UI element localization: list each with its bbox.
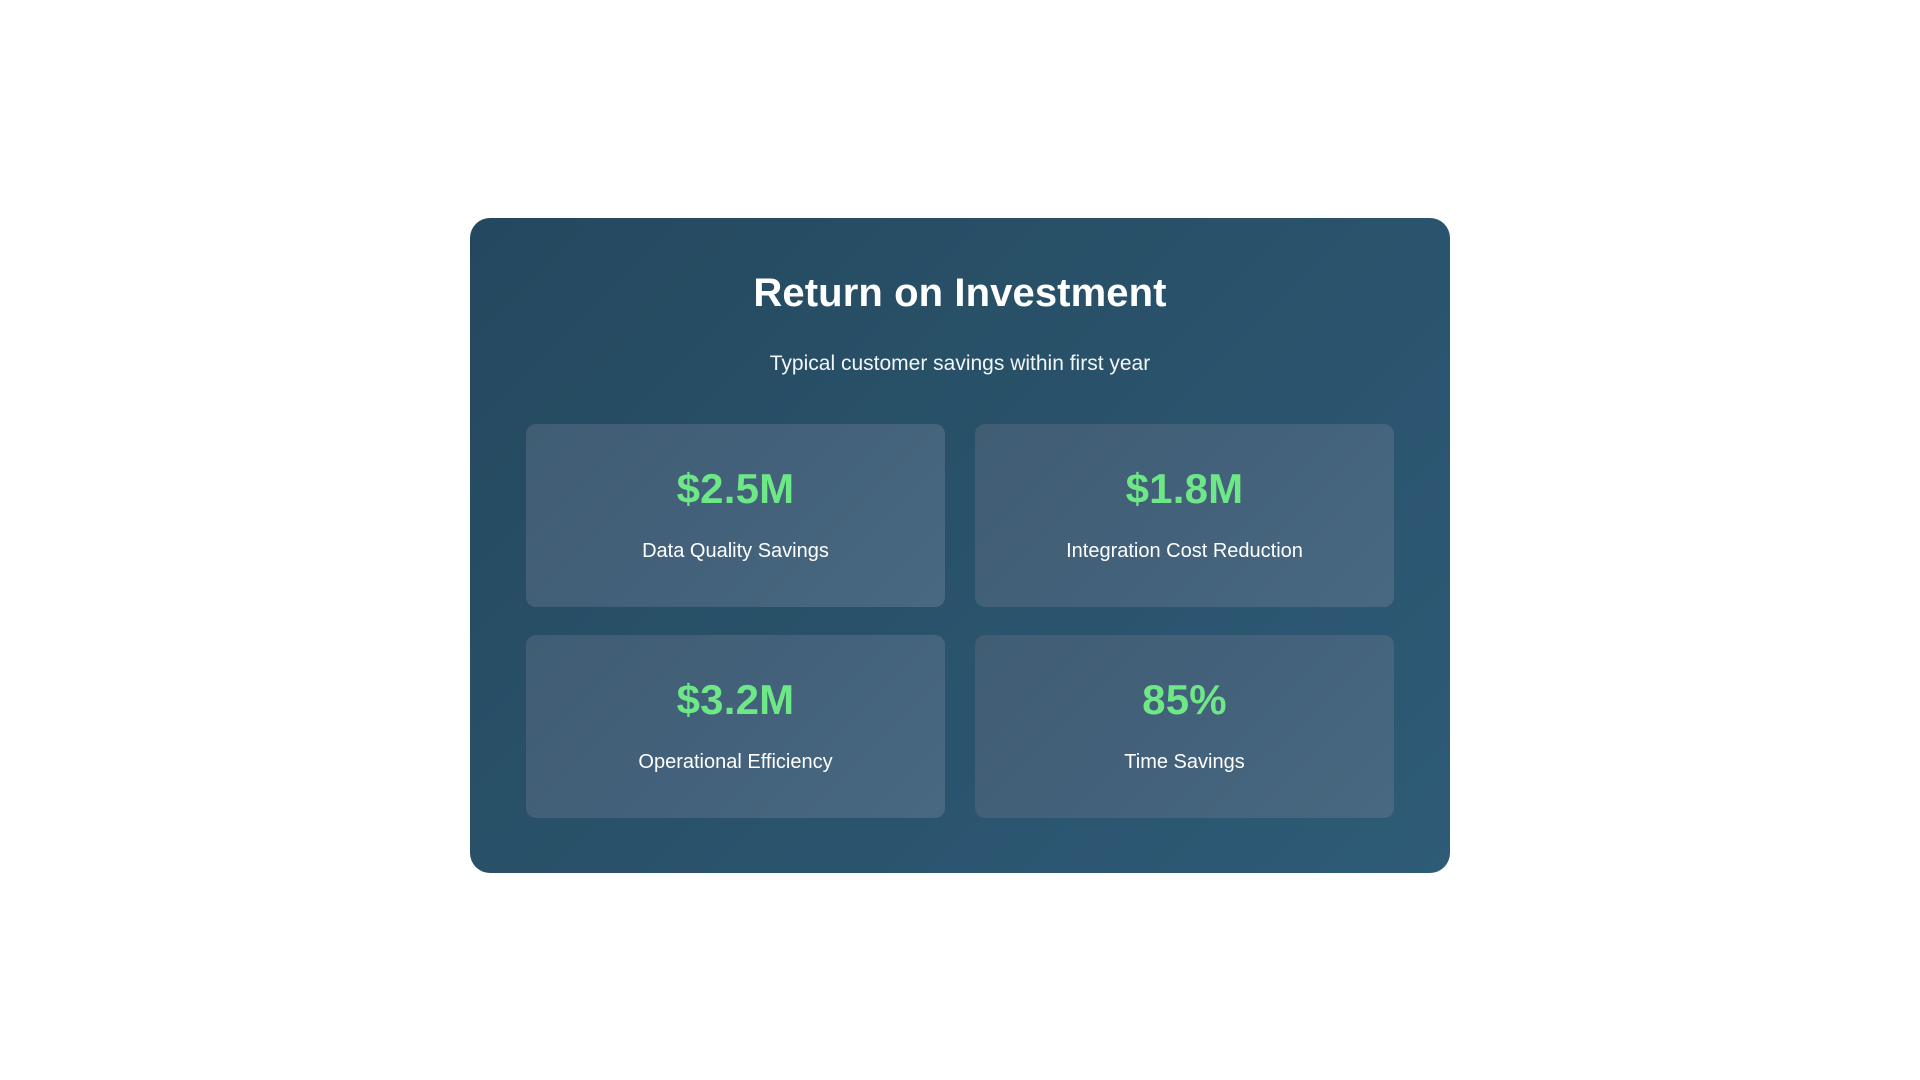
metric-label: Operational Efficiency xyxy=(638,750,832,774)
metric-label: Time Savings xyxy=(1124,750,1244,774)
metric-value: $1.8M xyxy=(1126,468,1244,510)
metric-card-integration-cost-reduction[interactable]: $1.8M Integration Cost Reduction xyxy=(975,424,1394,607)
metric-value: $3.2M xyxy=(677,679,795,721)
metric-value: 85% xyxy=(1142,679,1227,721)
metrics-grid: $2.5M Data Quality Savings $1.8M Integra… xyxy=(526,424,1394,818)
metric-card-operational-efficiency[interactable]: $3.2M Operational Efficiency xyxy=(526,635,945,818)
metric-card-data-quality-savings[interactable]: $2.5M Data Quality Savings xyxy=(526,424,945,607)
metric-label: Data Quality Savings xyxy=(642,539,829,563)
page-root: Return on Investment Typical customer sa… xyxy=(0,0,1920,1080)
page-subtitle: Typical customer savings within first ye… xyxy=(526,316,1394,377)
roi-panel: Return on Investment Typical customer sa… xyxy=(470,218,1450,873)
metric-label: Integration Cost Reduction xyxy=(1066,539,1303,563)
metric-card-time-savings[interactable]: 85% Time Savings xyxy=(975,635,1394,818)
page-title: Return on Investment xyxy=(526,256,1394,316)
metric-value: $2.5M xyxy=(677,468,795,510)
